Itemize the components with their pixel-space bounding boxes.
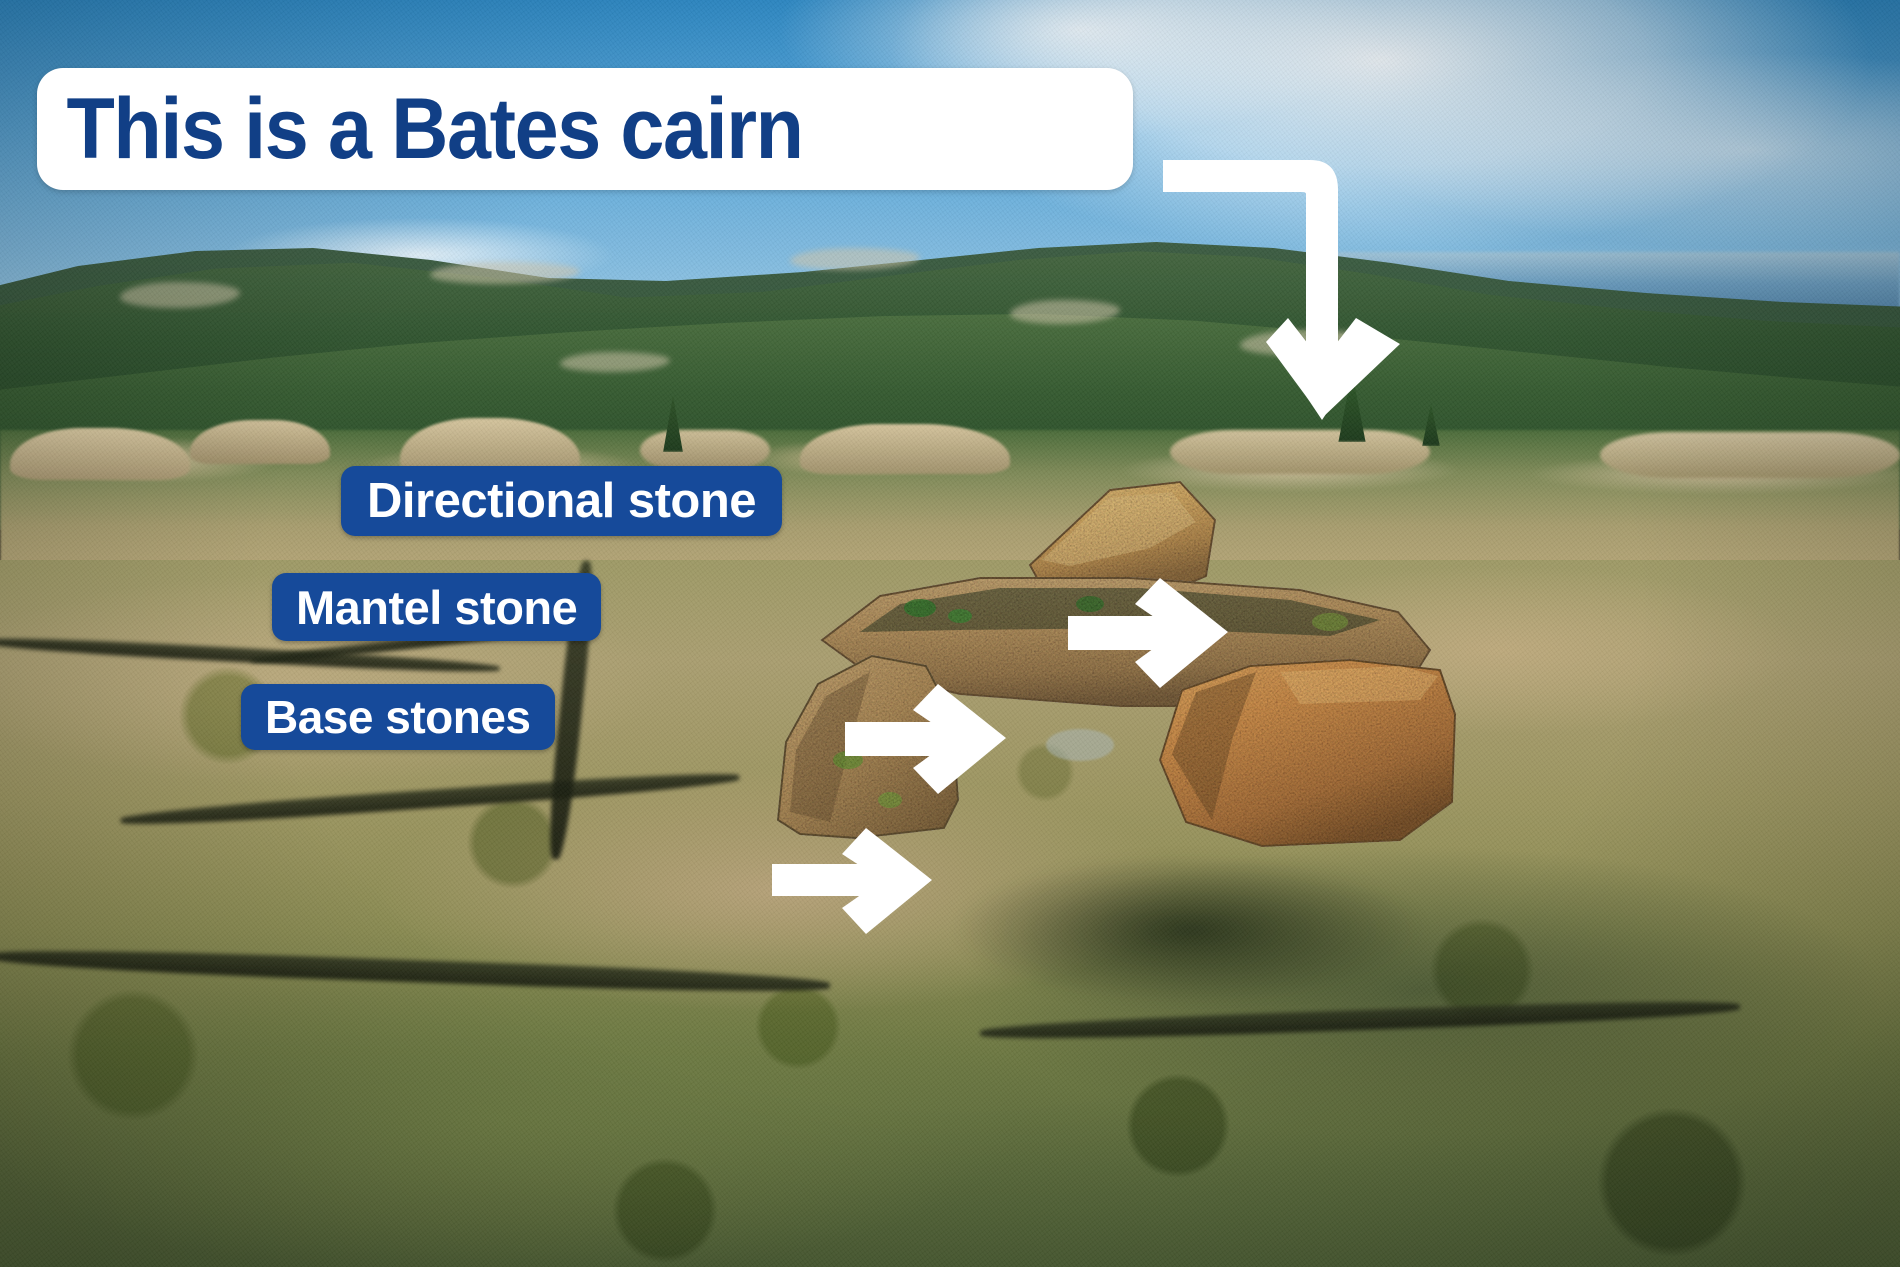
- base-stone-right: [1160, 660, 1455, 846]
- annotated-photo: This is a Bates cairn Directional stone …: [0, 0, 1900, 1267]
- base-stone-left: [778, 656, 958, 838]
- lichen-blotch: [1046, 729, 1114, 761]
- label-directional-stone: Directional stone: [341, 466, 782, 536]
- label-mantel-stone: Mantel stone: [272, 573, 601, 641]
- directional-stone: [1030, 482, 1215, 592]
- page-title: This is a Bates cairn: [37, 86, 803, 172]
- label-base-stones: Base stones: [241, 684, 555, 750]
- title-callout-card: This is a Bates cairn: [37, 68, 1133, 190]
